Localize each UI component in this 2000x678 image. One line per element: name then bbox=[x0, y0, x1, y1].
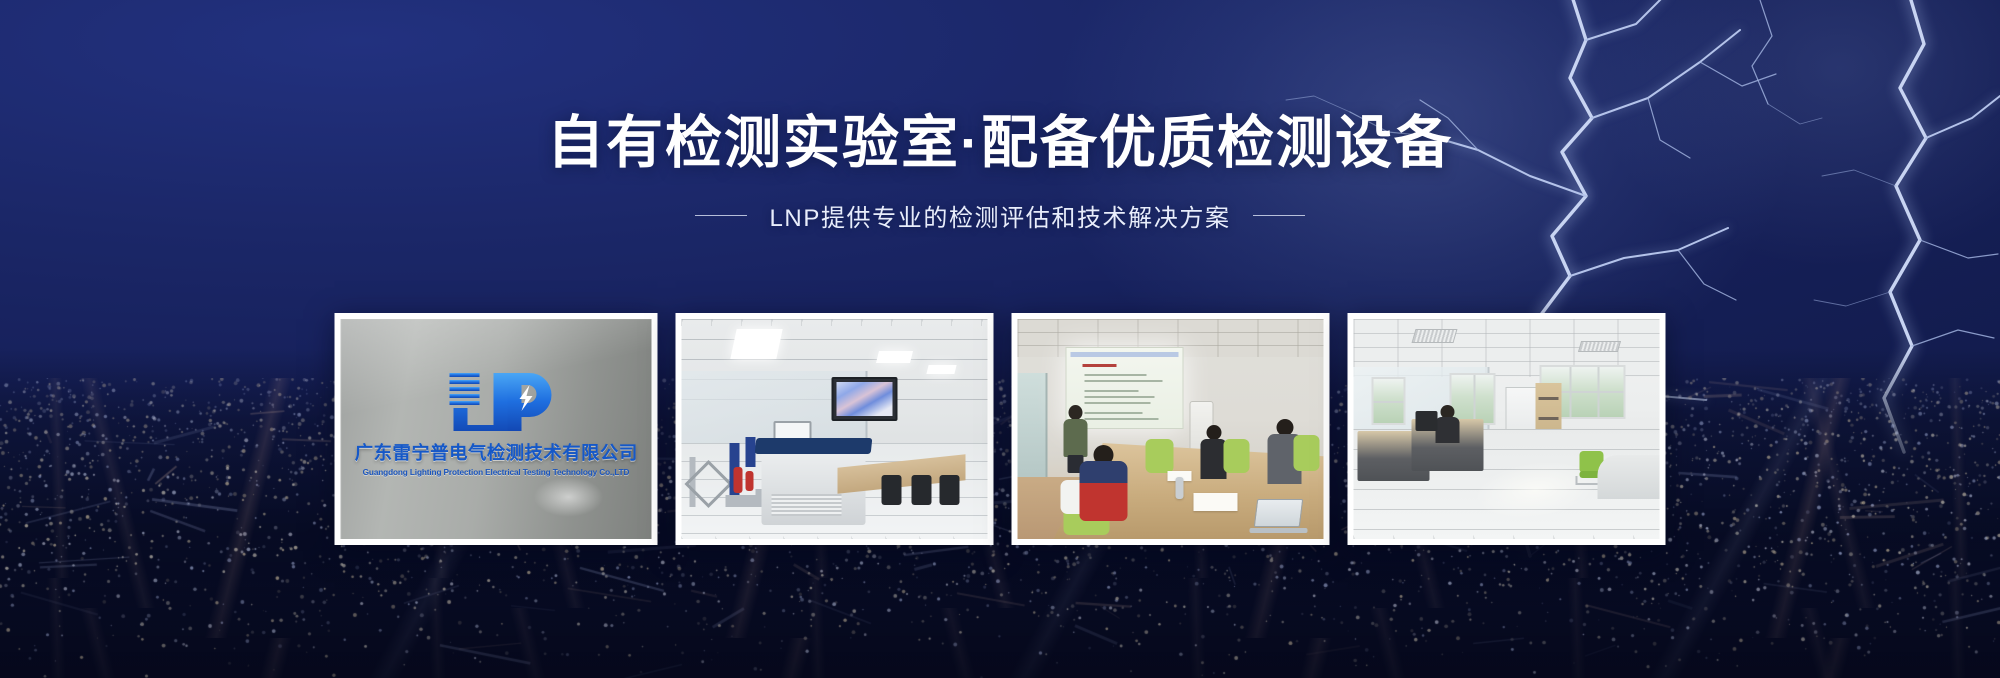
lab-display-screen bbox=[832, 377, 898, 421]
photo-frame bbox=[1018, 319, 1324, 539]
meeting-chair bbox=[1294, 435, 1320, 471]
page-title: 自有检测实验室·配备优质检测设备 bbox=[547, 112, 1453, 176]
office-window bbox=[1372, 377, 1406, 425]
ceiling-light bbox=[730, 329, 782, 359]
hero-text-block: 自有检测实验室·配备优质检测设备 LNP提供专业的检测评估和技术解决方案 bbox=[0, 112, 2000, 233]
hero-banner: 自有检测实验室·配备优质检测设备 LNP提供专业的检测评估和技术解决方案 bbox=[0, 0, 2000, 678]
ceiling-light bbox=[876, 351, 913, 363]
subtitle-row: LNP提供专业的检测评估和技术解决方案 bbox=[0, 198, 2000, 233]
lab-chair bbox=[882, 475, 902, 505]
meeting-chair bbox=[1224, 439, 1250, 473]
gallery-photo-office-area[interactable] bbox=[1348, 313, 1666, 545]
document-paper bbox=[1194, 493, 1238, 511]
rule-left-icon bbox=[695, 215, 747, 216]
photo-frame bbox=[682, 319, 988, 539]
lnp-logo-icon bbox=[433, 367, 559, 431]
wall-reflection bbox=[533, 477, 603, 517]
thermos-cup bbox=[1176, 477, 1184, 499]
ceiling-light bbox=[926, 365, 956, 374]
meeting-door bbox=[1018, 373, 1048, 485]
photo-frame: 广东雷宁普电气检测技术有限公司 Guangdong Lighting Prote… bbox=[341, 319, 652, 539]
lnp-sign: 广东雷宁普电气检测技术有限公司 Guangdong Lighting Prote… bbox=[341, 367, 652, 477]
page-subtitle: LNP提供专业的检测评估和技术解决方案 bbox=[769, 198, 1230, 233]
laptop bbox=[1250, 499, 1306, 533]
gallery-photo-meeting-room[interactable] bbox=[1012, 313, 1330, 545]
photo-gallery: 广东雷宁普电气检测技术有限公司 Guangdong Lighting Prote… bbox=[335, 313, 1666, 545]
meeting-chair bbox=[1146, 439, 1174, 473]
ceiling-vent bbox=[1578, 341, 1621, 352]
company-name-en: Guangdong Lighting Protection Electrical… bbox=[363, 468, 630, 477]
ceiling-vent bbox=[1411, 329, 1457, 343]
rule-right-icon bbox=[1253, 215, 1305, 216]
gallery-photo-testing-laboratory[interactable] bbox=[676, 313, 994, 545]
lab-chair bbox=[940, 475, 960, 505]
company-name-cn: 广东雷宁普电气检测技术有限公司 bbox=[354, 439, 637, 465]
lab-chair bbox=[912, 475, 932, 505]
office-monitor bbox=[1416, 411, 1438, 431]
attendee-person-red bbox=[1076, 445, 1132, 521]
gallery-photo-company-sign[interactable]: 广东雷宁普电气检测技术有限公司 Guangdong Lighting Prote… bbox=[335, 313, 658, 545]
reception-counter bbox=[1598, 455, 1660, 499]
photo-frame bbox=[1354, 319, 1660, 539]
